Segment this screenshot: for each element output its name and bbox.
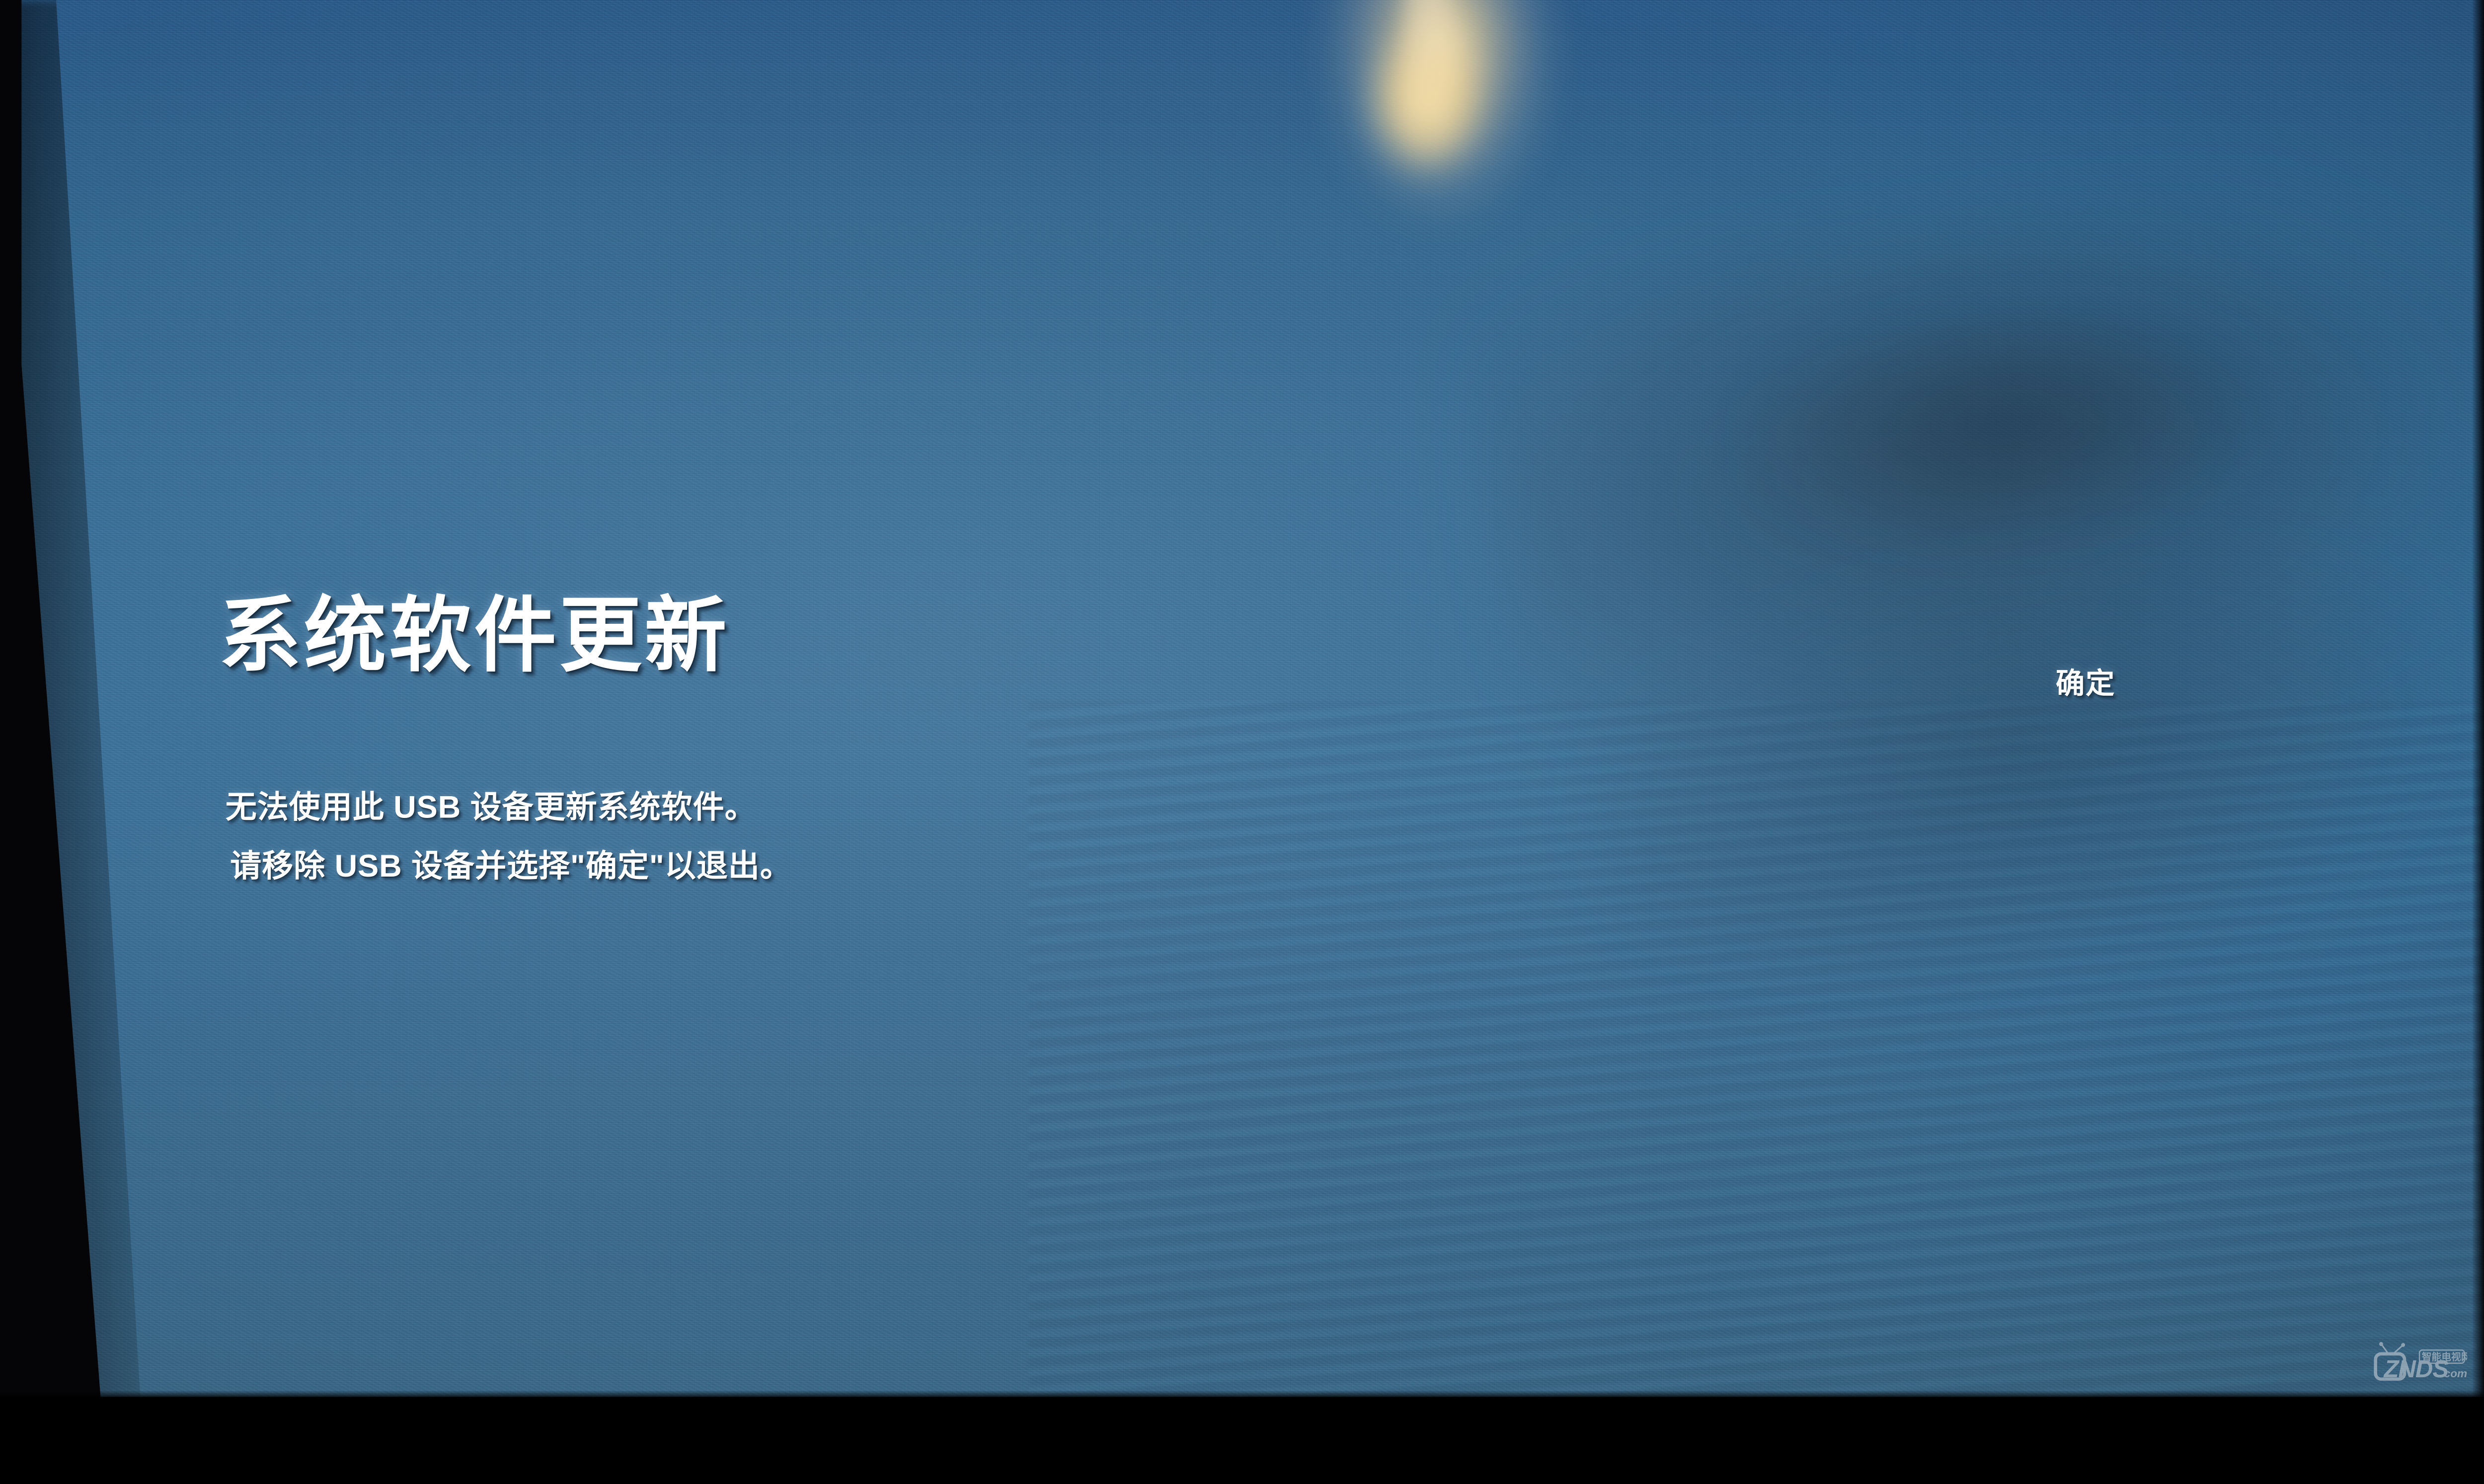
tv-screen-photo: 系统软件更新 无法使用此 USB 设备更新系统软件。 请移除 USB 设备并选择… <box>0 0 2484 1397</box>
confirm-button[interactable]: 确定 <box>2029 654 2142 708</box>
dialog-message: 无法使用此 USB 设备更新系统软件。 请移除 USB 设备并选择"确定"以退出… <box>226 778 792 895</box>
antenna-tip-right <box>2401 1343 2405 1347</box>
svg-text:智能电视网: 智能电视网 <box>2422 1351 2467 1363</box>
page-title: 系统软件更新 <box>219 594 730 677</box>
antenna-tip-left <box>2379 1342 2383 1346</box>
dialog-message-line-1: 无法使用此 USB 设备更新系统软件。 <box>226 778 792 837</box>
svg-text:.com: .com <box>2441 1367 2467 1380</box>
dialog-message-line-2: 请移除 USB 设备并选择"确定"以退出。 <box>226 837 792 896</box>
znds-watermark[interactable]: ZNDS .com 智能电视网 <box>2362 1338 2467 1387</box>
